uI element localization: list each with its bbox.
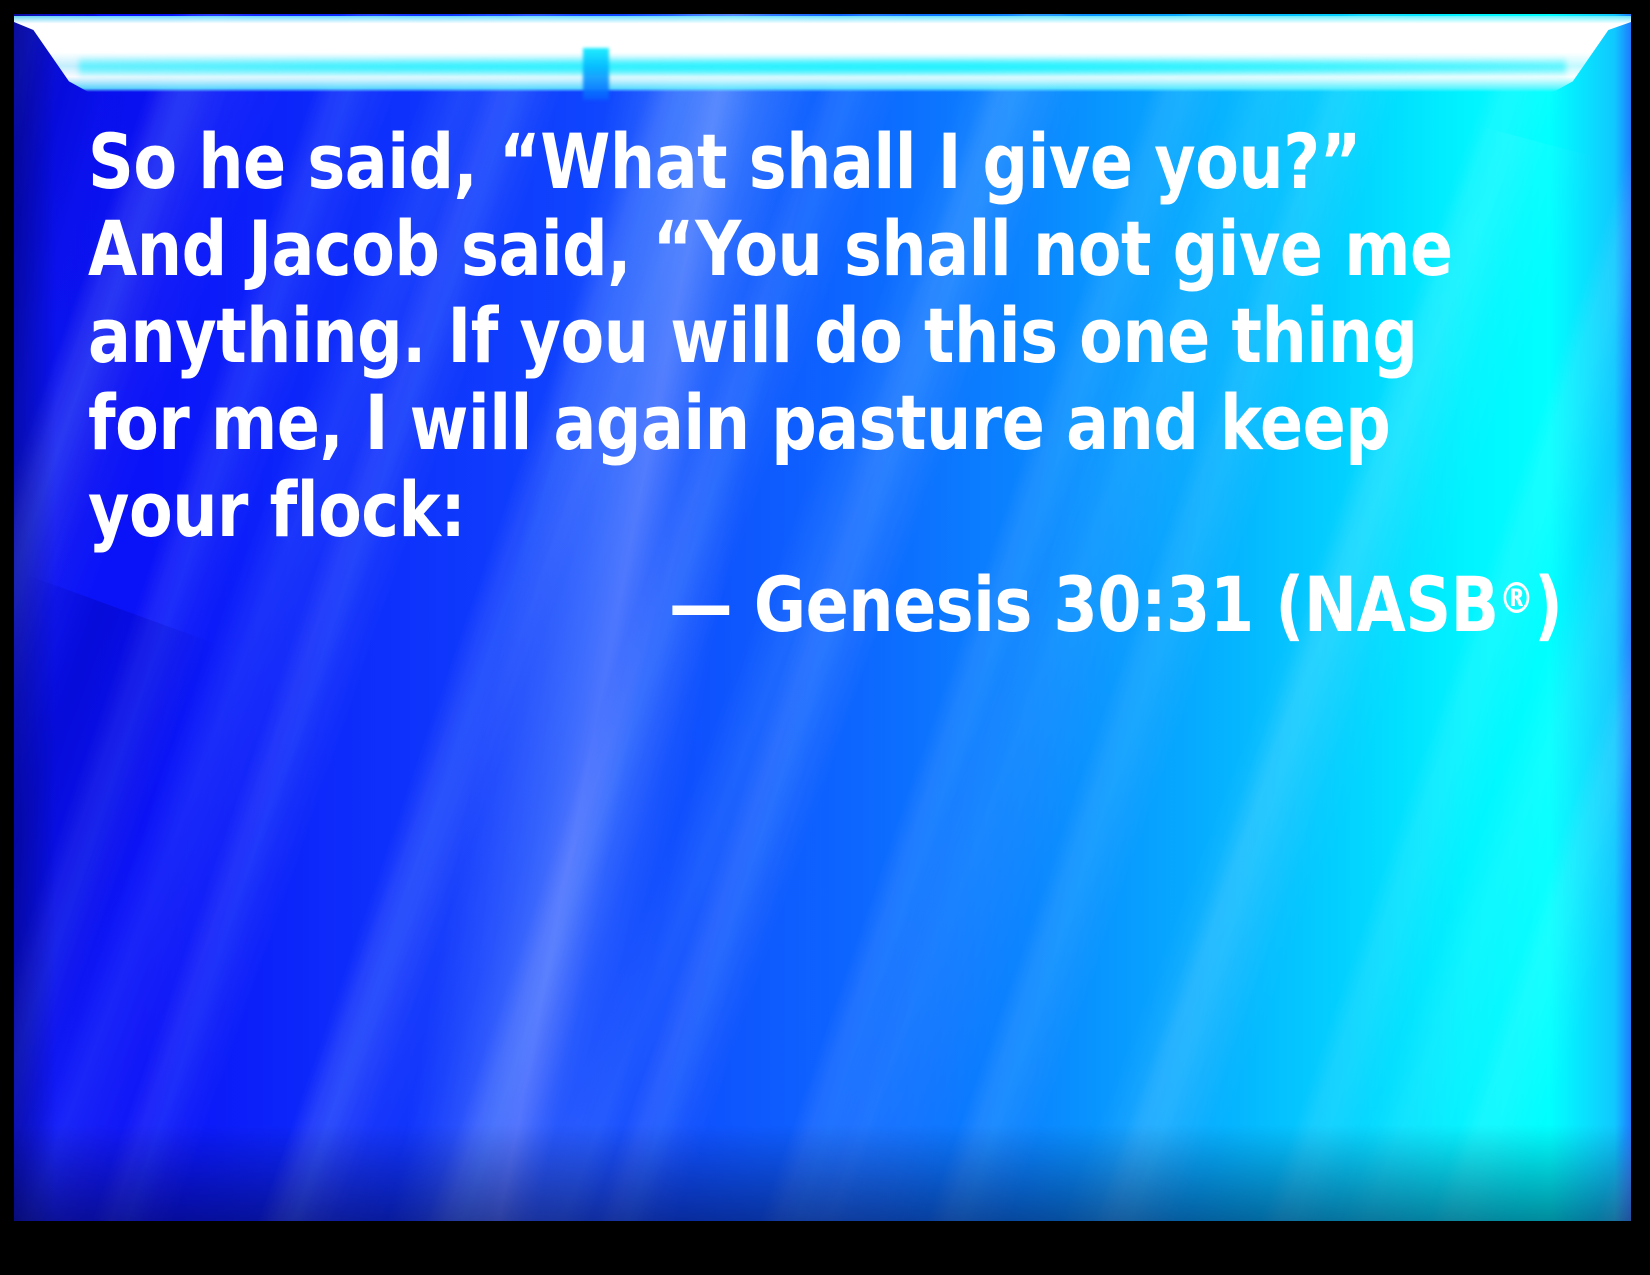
slide-canvas: So he said, “What shall I give you?” And… [14, 14, 1631, 1221]
slide-frame: So he said, “What shall I give you?” And… [0, 0, 1650, 1275]
verse-text: So he said, “What shall I give you?” And… [88, 118, 1464, 553]
citation-close-paren: ) [1534, 560, 1563, 649]
citation-reference: Genesis 30:31 (NASB [754, 560, 1499, 649]
citation-dash: — [669, 560, 732, 649]
verse-block: So he said, “What shall I give you?” And… [88, 118, 1568, 651]
verse-citation: — Genesis 30:31 (NASB®) [192, 553, 1568, 651]
registered-trademark-icon: ® [1499, 574, 1534, 624]
